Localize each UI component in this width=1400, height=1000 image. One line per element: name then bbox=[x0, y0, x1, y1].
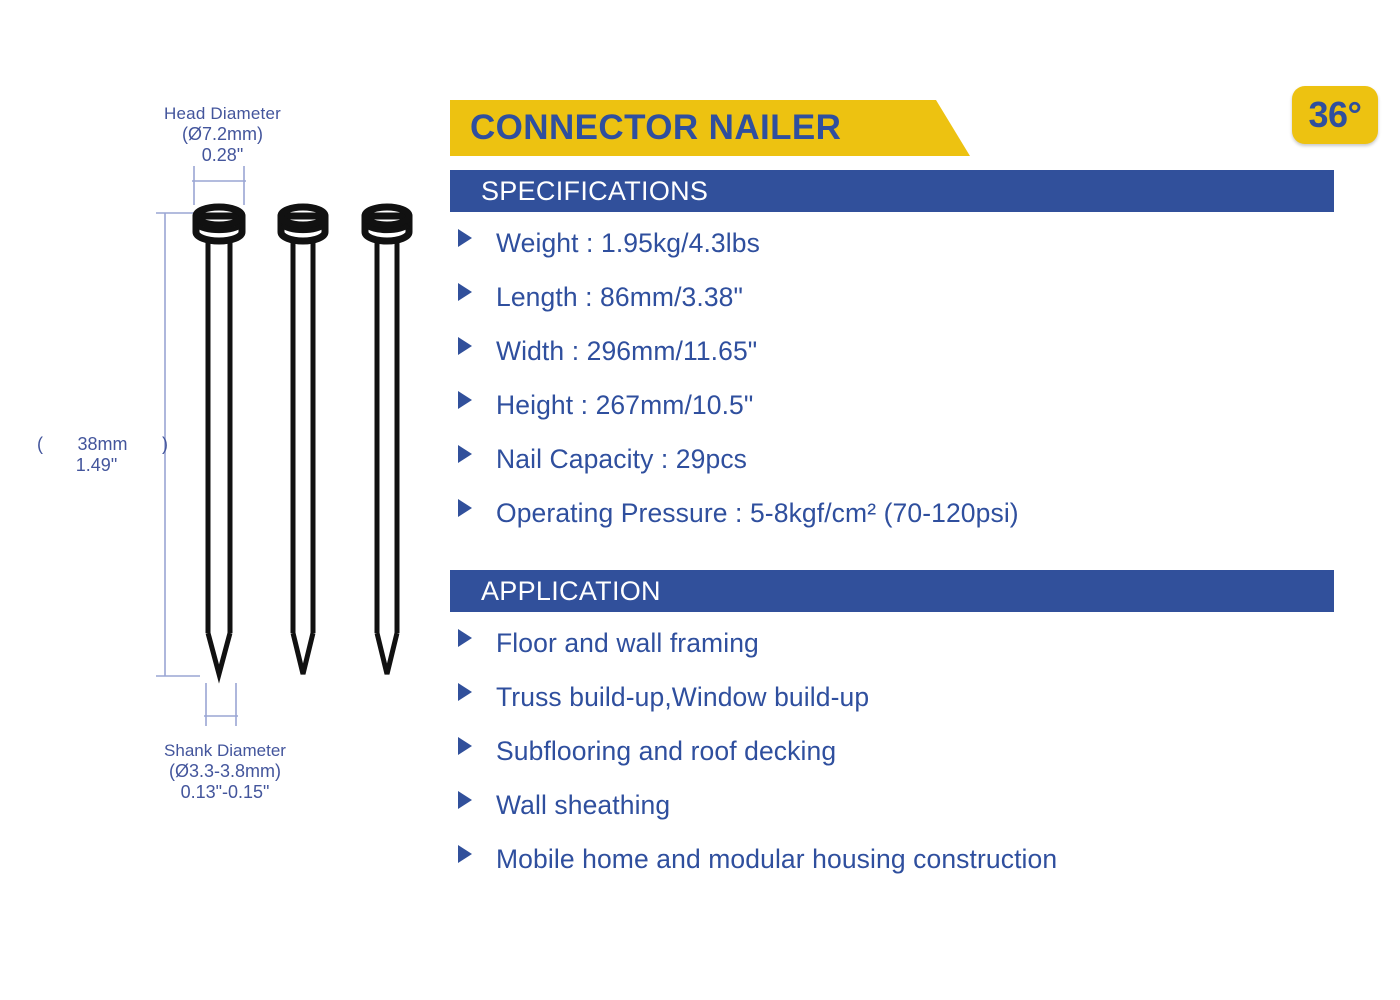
list-item: Operating Pressure : 5-8kgf/cm² (70-120p… bbox=[450, 498, 1380, 552]
triangle-bullet-icon bbox=[458, 391, 472, 409]
triangle-bullet-icon bbox=[458, 337, 472, 355]
shank-diameter-title: Shank Diameter bbox=[105, 741, 345, 761]
triangle-bullet-icon bbox=[458, 683, 472, 701]
triangle-bullet-icon bbox=[458, 445, 472, 463]
list-item: Weight : 1.95kg/4.3lbs bbox=[450, 228, 1380, 282]
angle-badge-label: 36° bbox=[1292, 86, 1378, 144]
angle-badge: 36° bbox=[1292, 86, 1378, 144]
specifications-heading: SPECIFICATIONS bbox=[481, 170, 708, 212]
length-imperial: 1.49" bbox=[35, 455, 170, 476]
shank-diameter-imperial: 0.13"-0.15" bbox=[105, 782, 345, 803]
length-metric: 38mm bbox=[77, 434, 127, 455]
specifications-section-bar: SPECIFICATIONS bbox=[450, 170, 1334, 212]
application-heading: APPLICATION bbox=[481, 570, 661, 612]
nail-length-label: ( 38mm ) 1.49" bbox=[35, 434, 170, 476]
spec-operating-pressure: Operating Pressure : 5-8kgf/cm² (70-120p… bbox=[496, 498, 1019, 529]
application-item-4: Wall sheathing bbox=[496, 790, 670, 821]
list-item: Width : 296mm/11.65" bbox=[450, 336, 1380, 390]
spec-weight: Weight : 1.95kg/4.3lbs bbox=[496, 228, 760, 259]
triangle-bullet-icon bbox=[458, 629, 472, 647]
application-section-bar: APPLICATION bbox=[450, 570, 1334, 612]
product-title-banner: CONNECTOR NAILER bbox=[450, 100, 970, 156]
head-diameter-title: Head Diameter bbox=[110, 104, 335, 124]
head-diameter-imperial: 0.28" bbox=[110, 145, 335, 166]
list-item: Floor and wall framing bbox=[450, 628, 1380, 682]
triangle-bullet-icon bbox=[458, 791, 472, 809]
application-item-5: Mobile home and modular housing construc… bbox=[496, 844, 1057, 875]
triangle-bullet-icon bbox=[458, 283, 472, 301]
spec-width: Width : 296mm/11.65" bbox=[496, 336, 757, 367]
nail-illustration-1 bbox=[196, 207, 242, 674]
nail-illustration-2 bbox=[281, 207, 325, 674]
application-list: Floor and wall framing Truss build-up,Wi… bbox=[450, 628, 1380, 898]
spec-nail-capacity: Nail Capacity : 29pcs bbox=[496, 444, 747, 475]
spec-length: Length : 86mm/3.38" bbox=[496, 282, 743, 313]
head-diameter-metric: (Ø7.2mm) bbox=[110, 124, 335, 145]
shank-diameter-metric: (Ø3.3-3.8mm) bbox=[105, 761, 345, 782]
triangle-bullet-icon bbox=[458, 845, 472, 863]
list-item: Truss build-up,Window build-up bbox=[450, 682, 1380, 736]
nail-illustration-3 bbox=[365, 207, 409, 674]
list-item: Length : 86mm/3.38" bbox=[450, 282, 1380, 336]
application-item-2: Truss build-up,Window build-up bbox=[496, 682, 869, 713]
list-item: Height : 267mm/10.5" bbox=[450, 390, 1380, 444]
shank-diameter-label: Shank Diameter (Ø3.3-3.8mm) 0.13"-0.15" bbox=[105, 741, 345, 804]
application-item-1: Floor and wall framing bbox=[496, 628, 759, 659]
list-item: Mobile home and modular housing construc… bbox=[450, 844, 1380, 898]
head-diameter-label: Head Diameter (Ø7.2mm) 0.28" bbox=[110, 104, 335, 167]
triangle-bullet-icon bbox=[458, 737, 472, 755]
list-item: Wall sheathing bbox=[450, 790, 1380, 844]
application-item-3: Subflooring and roof decking bbox=[496, 736, 836, 767]
triangle-bullet-icon bbox=[458, 229, 472, 247]
list-item: Subflooring and roof decking bbox=[450, 736, 1380, 790]
shank-diameter-dimension bbox=[204, 683, 238, 726]
nail-technical-drawing: Head Diameter (Ø7.2mm) 0.28" Shank Diame… bbox=[0, 0, 440, 1000]
length-open-paren: ( bbox=[37, 434, 43, 455]
content-column: CONNECTOR NAILER SPECIFICATIONS Weight :… bbox=[450, 0, 1400, 1000]
specifications-list: Weight : 1.95kg/4.3lbs Length : 86mm/3.3… bbox=[450, 228, 1380, 552]
length-close-paren: ) bbox=[162, 434, 168, 455]
spec-height: Height : 267mm/10.5" bbox=[496, 390, 753, 421]
page-title: CONNECTOR NAILER bbox=[470, 100, 841, 156]
head-diameter-dimension bbox=[192, 166, 246, 205]
list-item: Nail Capacity : 29pcs bbox=[450, 444, 1380, 498]
triangle-bullet-icon bbox=[458, 499, 472, 517]
